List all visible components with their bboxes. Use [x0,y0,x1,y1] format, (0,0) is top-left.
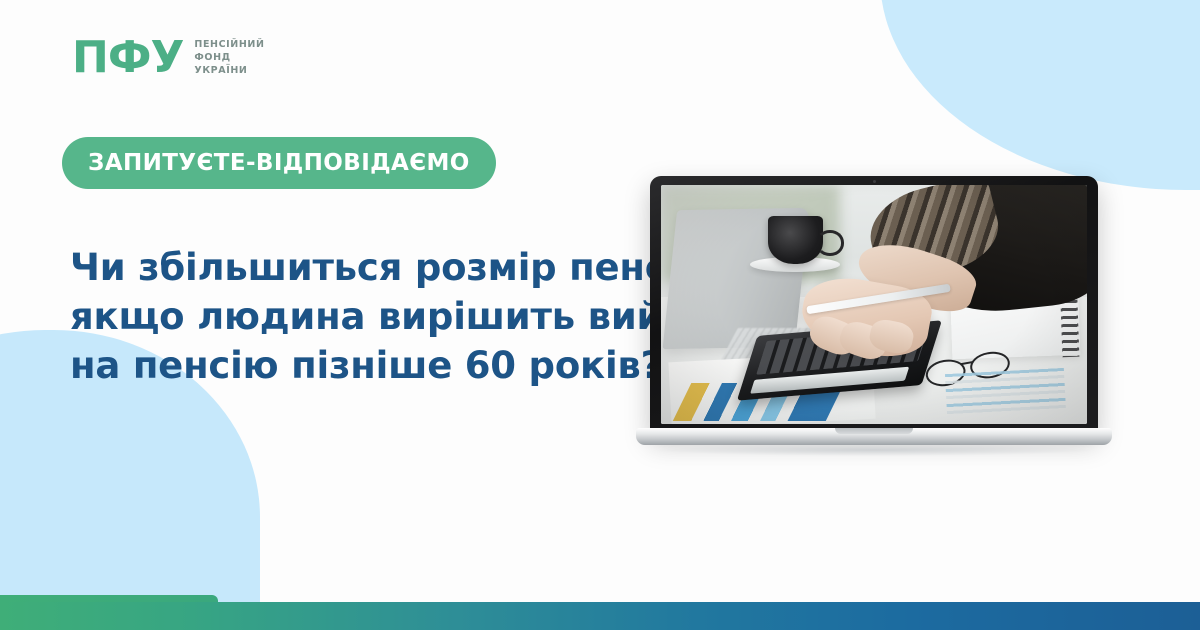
logo-mark-text: ПФУ [72,36,183,80]
laptop-base [636,428,1112,445]
logo-word-line-3: УКРАЇНИ [194,66,264,76]
laptop-illustration [636,176,1112,458]
laptop-screen [661,185,1087,424]
pfu-logo: ПФУ ПЕНСІЙНИЙ ФОНД УКРАЇНИ [72,35,265,79]
headline-line-3: на пенсію пізніше 60 років? [70,341,630,390]
photo-vignette [661,185,1087,424]
headline-line-1: Чи збільшиться розмір пенсії, [70,243,630,292]
headline-line-2: якщо людина вирішить вийти [70,292,630,341]
bottom-left-blob-decoration-secondary [0,392,180,602]
logo-word-line-2: ФОНД [194,53,264,63]
laptop-base-notch [835,428,913,434]
webcam-icon [873,180,876,183]
logo-word-line-1: ПЕНСІЙНИЙ [194,40,264,50]
screen-photo [661,185,1087,424]
poster-canvas: ПФУ ПЕНСІЙНИЙ ФОНД УКРАЇНИ ЗАПИТУЄТЕ-ВІД… [0,0,1200,630]
bottom-bar-step [0,595,218,602]
laptop-drop-shadow [660,444,1090,456]
bottom-gradient-bar [0,602,1200,630]
category-badge: ЗАПИТУЄТЕ-ВІДПОВІДАЄМО [62,137,496,189]
logo-wordmark: ПЕНСІЙНИЙ ФОНД УКРАЇНИ [194,38,264,76]
top-right-blob-decoration-secondary [880,0,1200,190]
laptop-lid [650,176,1098,434]
page-title: Чи збільшиться розмір пенсії, якщо людин… [70,243,630,391]
